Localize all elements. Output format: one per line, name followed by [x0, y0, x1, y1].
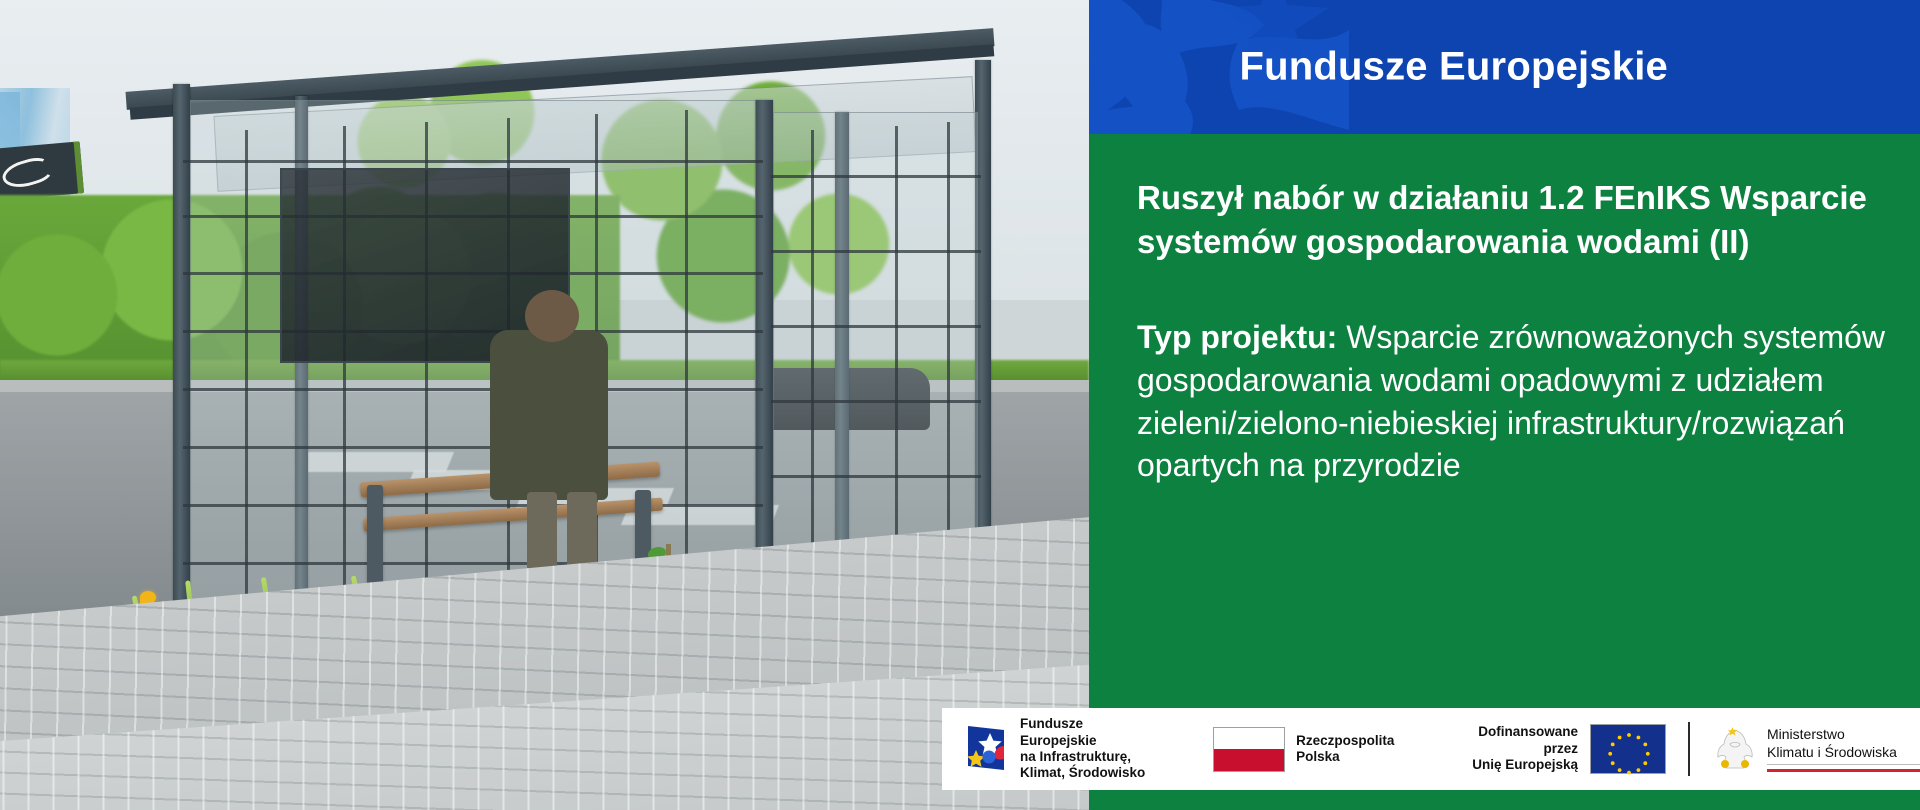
trellis-wire: [245, 130, 248, 630]
person-seated: [490, 330, 608, 500]
person-head: [525, 290, 579, 342]
polish-eagle-icon: [1712, 724, 1758, 774]
logo-rzeczpospolita-polska: Rzeczpospolita Polska: [1213, 727, 1394, 772]
logo-ministry-text: Ministerstwo Klimatu i Środowiska: [1767, 726, 1920, 761]
photo-bus-shelter: [0, 0, 1089, 810]
headline: Ruszył nabór w działaniu 1.2 FEnIKS Wspa…: [1137, 176, 1897, 264]
trellis-wire: [811, 130, 814, 570]
tower-sign: [0, 141, 84, 200]
trellis-wire: [183, 446, 763, 449]
project-type-paragraph: Typ projektu: Wsparcie zrównoważonych sy…: [1137, 316, 1897, 488]
logo-fundusze-europejskie: Fundusze Europejskie na Infrastrukturę, …: [964, 716, 1161, 782]
poland-flag-icon: [1213, 727, 1285, 772]
trellis-wire: [183, 160, 763, 163]
trellis-wire: [183, 388, 763, 391]
ministry-rule-red: [1767, 769, 1920, 772]
shelter-post-left: [173, 84, 190, 644]
logo-eu-text: Dofinansowane przez Unię Europejską: [1442, 724, 1578, 773]
trellis-wire: [895, 126, 898, 566]
fundusze-europejskie-bar: Fundusze Europejskie: [1089, 0, 1920, 134]
funding-logo-strip: Fundusze Europejskie na Infrastrukturę, …: [942, 708, 1920, 790]
trellis-wire: [685, 110, 688, 610]
trellis-wire: [183, 504, 763, 507]
logo-divider: [1688, 722, 1690, 776]
green-content-panel: Fundusze Europejskie Ruszył nabór w dzia…: [1089, 0, 1920, 810]
logo-fundusze-text: Fundusze Europejskie na Infrastrukturę, …: [1020, 716, 1161, 782]
logo-poland-text: Rzeczpospolita Polska: [1296, 733, 1394, 766]
copy-block: Ruszył nabór w działaniu 1.2 FEnIKS Wspa…: [1137, 176, 1897, 487]
logo-ministerstwo: Ministerstwo Klimatu i Środowiska: [1712, 724, 1920, 774]
eu-flag-icon: [1590, 724, 1666, 774]
project-type-label: Typ projektu:: [1137, 319, 1337, 355]
trellis-wire: [947, 122, 950, 562]
logo-unia-europejska: Dofinansowane przez Unię Europejską: [1442, 724, 1666, 774]
fundusze-europejskie-flag-icon: [964, 724, 1010, 774]
promo-banner: Fundusze Europejskie Ruszył nabór w dzia…: [0, 0, 1920, 810]
ministry-rule-grey: [1767, 764, 1920, 765]
bar-title: Fundusze Europejskie: [1239, 45, 1668, 90]
